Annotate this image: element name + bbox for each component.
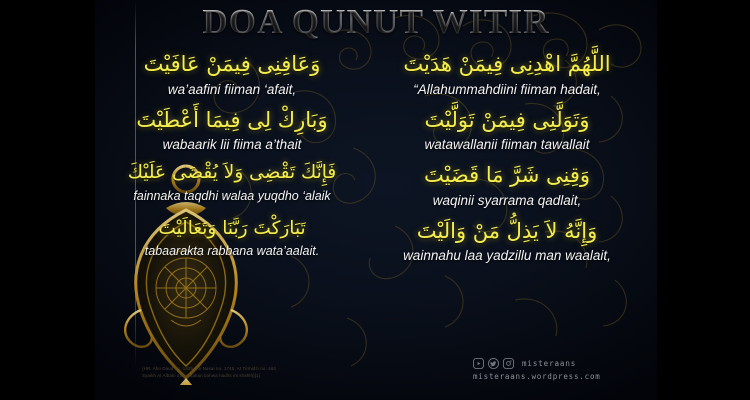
transliteration-text: waqinii syarrama qadlait,	[433, 193, 582, 208]
arabic-text: وَتَوَلَّنِى فِيمَنْ تَوَلَّيْتَ	[425, 104, 590, 137]
arabic-text: وَإِنَّهُ لاَ يَذِلُّ مَنْ وَالَيْتَ	[417, 215, 597, 248]
transliteration-text: wainnahu laa yadzillu man waalait,	[403, 248, 611, 263]
verse-cell-right: وَإِنَّهُ لاَ يَذِلُّ مَنْ وَالَيْتَ wai…	[363, 215, 651, 264]
transliteration-text: watawallanii fiiman tawallait	[424, 137, 589, 152]
arabic-text: تَبَارَكْتَ رَبَّنَا وَتَعَالَيْتَ	[158, 215, 305, 244]
transliteration-text: tabaarakta rabbana wata’aalait.	[145, 244, 319, 258]
credit-handle: misteraans	[522, 359, 576, 368]
slide-canvas: DOA QUNUT WITIR وَعَافِنِى فِيمَنْ عَافَ…	[0, 0, 750, 400]
verse-cell-left: وَعَافِنِى فِيمَنْ عَافَيْتَ wa’aafini f…	[101, 48, 363, 97]
transliteration-text: wa’aafini fiiman ‘afait,	[168, 82, 296, 97]
credit-website: misteraans.wordpress.com	[473, 372, 601, 381]
arabic-text: وَعَافِنِى فِيمَنْ عَافَيْتَ	[144, 48, 321, 81]
arabic-text: وَبَارِكْ لِى فِيمَا أَعْطَيْتَ	[136, 104, 327, 137]
source-line-1: (HR. Abu Daud no. 1425, An Nasai no. 174…	[142, 366, 276, 373]
credit-watermark: misteraans misteraans.wordpress.com	[473, 358, 601, 381]
verse-row: فَإِنَّكَ تَقْضِى وَلاَ يُقْضَى عَلَيْكَ…	[95, 159, 657, 208]
twitter-icon[interactable]	[488, 358, 499, 369]
arabic-text: وَقِنِى شَرَّ مَا قَضَيْتَ	[424, 159, 590, 192]
page-title: DOA QUNUT WITIR	[202, 2, 549, 42]
arabic-text: اللَّهُمَّ اهْدِنِى فِيمَنْ هَدَيْتَ	[403, 48, 610, 81]
verses-container: وَعَافِنِى فِيمَنْ عَافَيْتَ wa’aafini f…	[95, 48, 657, 270]
verse-cell-left: فَإِنَّكَ تَقْضِى وَلاَ يُقْضَى عَلَيْكَ…	[101, 159, 363, 203]
verse-row: تَبَارَكْتَ رَبَّنَا وَتَعَالَيْتَ tabaa…	[95, 215, 657, 264]
credit-social-row: misteraans	[473, 358, 601, 369]
instagram-icon[interactable]	[503, 358, 514, 369]
arabic-text: فَإِنَّكَ تَقْضِى وَلاَ يُقْضَى عَلَيْكَ	[128, 159, 337, 188]
verse-cell-left: تَبَارَكْتَ رَبَّنَا وَتَعَالَيْتَ tabaa…	[101, 215, 363, 259]
verse-cell-left: وَبَارِكْ لِى فِيمَا أَعْطَيْتَ wabaarik…	[101, 104, 363, 153]
source-line-2: Syaikh Al Albani mengatakan bahwa hadits…	[142, 373, 276, 380]
verse-row: وَعَافِنِى فِيمَنْ عَافَيْتَ wa’aafini f…	[95, 48, 657, 97]
verse-row: وَبَارِكْ لِى فِيمَا أَعْطَيْتَ wabaarik…	[95, 104, 657, 153]
transliteration-text: fainnaka taqdhi walaa yuqdho ‘alaik	[133, 189, 330, 203]
youtube-icon[interactable]	[473, 358, 484, 369]
verse-cell-right: وَقِنِى شَرَّ مَا قَضَيْتَ waqinii syarr…	[363, 159, 651, 208]
hadith-source-citation: (HR. Abu Daud no. 1425, An Nasai no. 174…	[142, 366, 276, 380]
title-block: DOA QUNUT WITIR	[95, 2, 657, 42]
transliteration-text: wabaarik lii fiima a’thait	[163, 137, 302, 152]
verse-cell-right: وَتَوَلَّنِى فِيمَنْ تَوَلَّيْتَ watawal…	[363, 104, 651, 153]
transliteration-text: “Allahummahdiini fiiman hadait,	[413, 82, 601, 97]
verse-cell-right: اللَّهُمَّ اهْدِنِى فِيمَنْ هَدَيْتَ “Al…	[363, 48, 651, 97]
content-panel: DOA QUNUT WITIR وَعَافِنِى فِيمَنْ عَافَ…	[95, 0, 657, 400]
